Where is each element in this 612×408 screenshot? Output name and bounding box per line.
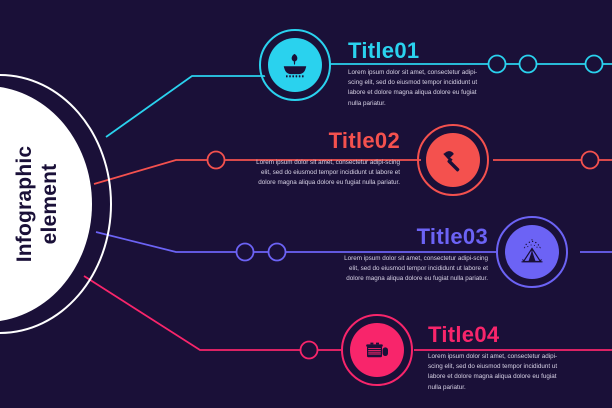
node-icon-item-04[interactable] xyxy=(350,323,404,377)
infographic-canvas: Infographic element Title01 Lorem ipsum … xyxy=(0,0,612,408)
body-item-01: Lorem ipsum dolor sit amet, consectetur … xyxy=(348,68,488,109)
title-item-03: Title03 xyxy=(340,226,488,248)
hub-label: Infographic element xyxy=(0,112,130,296)
title-item-01: Title01 xyxy=(348,40,488,62)
body-item-02: Lorem ipsum dolor sit amet, consectetur … xyxy=(252,158,400,189)
tent-campfire-icon xyxy=(515,235,549,269)
node-icon-item-02[interactable] xyxy=(426,133,480,187)
text-block-item-02: Title02 Lorem ipsum dolor sit amet, cons… xyxy=(252,130,400,189)
axe-icon xyxy=(438,145,468,175)
text-block-item-03: Title03 Lorem ipsum dolor sit amet, cons… xyxy=(340,226,488,285)
text-block-item-04: Title04 Lorem ipsum dolor sit amet, cons… xyxy=(428,324,568,393)
body-item-03: Lorem ipsum dolor sit amet, consectetur … xyxy=(340,254,488,285)
title-item-02: Title02 xyxy=(252,130,400,152)
body-item-04: Lorem ipsum dolor sit amet, consectetur … xyxy=(428,352,568,393)
sleeping-bag-icon xyxy=(361,334,393,366)
text-block-item-01: Title01 Lorem ipsum dolor sit amet, cons… xyxy=(348,40,488,109)
node-icon-item-01[interactable] xyxy=(268,38,322,92)
title-item-04: Title04 xyxy=(428,324,568,346)
node-icon-item-03[interactable] xyxy=(505,225,559,279)
canoe-paddle-icon xyxy=(279,49,311,81)
